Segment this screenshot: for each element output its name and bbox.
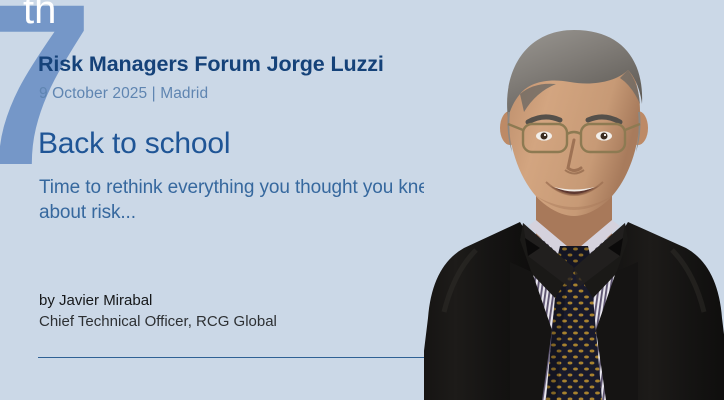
- talk-subhead: Time to rethink everything you thought y…: [39, 175, 469, 226]
- event-date-location: 9 October 2025 | Madrid: [39, 85, 208, 103]
- text-column: Risk Managers Forum Jorge Luzzi 9 Octobe…: [38, 0, 458, 400]
- speaker-byline: by Javier Mirabal: [39, 292, 152, 309]
- divider-rule: [38, 357, 428, 358]
- speaker-portrait: [424, 0, 724, 400]
- event-title: Risk Managers Forum Jorge Luzzi: [38, 52, 384, 77]
- talk-headline: Back to school: [38, 127, 230, 161]
- event-promo-banner: 7 th Risk Managers Forum Jorge Luzzi 9 O…: [0, 0, 724, 400]
- speaker-role: Chief Technical Officer, RCG Global: [39, 313, 277, 330]
